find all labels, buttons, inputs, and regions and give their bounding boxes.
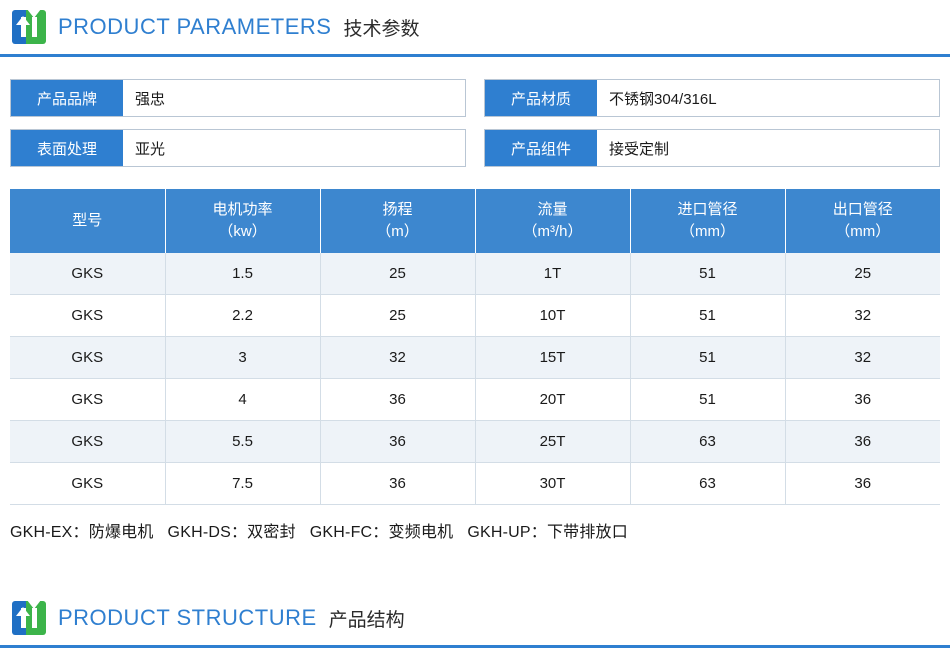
cell-head: 32 bbox=[320, 337, 475, 379]
company-logo-icon bbox=[12, 10, 46, 44]
info-key-brand: 产品品牌 bbox=[11, 80, 123, 116]
info-value-surface-treatment: 亚光 bbox=[123, 130, 465, 166]
spec-table-body: GKS 1.5 25 1T 51 25 GKS 2.2 25 10T 51 32… bbox=[10, 253, 940, 505]
cell-inlet-diameter: 51 bbox=[630, 379, 785, 421]
cell-inlet-diameter: 63 bbox=[630, 463, 785, 505]
cell-outlet-diameter: 36 bbox=[785, 463, 940, 505]
cell-head: 36 bbox=[320, 463, 475, 505]
cell-motor-power: 2.2 bbox=[165, 295, 320, 337]
spec-table: 型号 电机功率 （kw） 扬程 （m） 流量 （m³/h） 进口管径 （m bbox=[10, 189, 940, 505]
cell-head: 25 bbox=[320, 253, 475, 295]
cell-head: 36 bbox=[320, 379, 475, 421]
info-row-components: 产品组件 接受定制 bbox=[484, 129, 940, 167]
cell-motor-power: 5.5 bbox=[165, 421, 320, 463]
cell-flow: 20T bbox=[475, 379, 630, 421]
spec-header-head: 扬程 （m） bbox=[320, 189, 475, 253]
note-item-ex: GKH-EX：防爆电机 bbox=[10, 524, 154, 541]
table-row: GKS 1.5 25 1T 51 25 bbox=[10, 253, 940, 295]
table-row: GKS 3 32 15T 51 32 bbox=[10, 337, 940, 379]
spec-table-wrapper: 型号 电机功率 （kw） 扬程 （m） 流量 （m³/h） 进口管径 （m bbox=[0, 189, 950, 505]
note-item-up: GKH-UP：下带排放口 bbox=[467, 524, 628, 541]
section-title-cn-structure: 产品结构 bbox=[329, 605, 405, 632]
spec-table-header-row: 型号 电机功率 （kw） 扬程 （m） 流量 （m³/h） 进口管径 （m bbox=[10, 189, 940, 253]
table-row: GKS 7.5 36 30T 63 36 bbox=[10, 463, 940, 505]
cell-flow: 15T bbox=[475, 337, 630, 379]
spec-header-head-line1: 扬程 bbox=[322, 199, 474, 221]
cell-outlet-diameter: 36 bbox=[785, 379, 940, 421]
section-header-structure: PRODUCT STRUCTURE 产品结构 bbox=[0, 591, 950, 645]
spec-table-head: 型号 电机功率 （kw） 扬程 （m） 流量 （m³/h） 进口管径 （m bbox=[10, 189, 940, 253]
cell-outlet-diameter: 32 bbox=[785, 295, 940, 337]
company-logo-icon bbox=[12, 601, 46, 635]
info-value-brand: 强忠 bbox=[123, 80, 465, 116]
table-row: GKS 4 36 20T 51 36 bbox=[10, 379, 940, 421]
cell-inlet-diameter: 51 bbox=[630, 295, 785, 337]
info-key-components: 产品组件 bbox=[485, 130, 597, 166]
section-title-cn-parameters: 技术参数 bbox=[343, 14, 419, 41]
cell-flow: 1T bbox=[475, 253, 630, 295]
info-row-material: 产品材质 不锈钢304/316L bbox=[484, 79, 940, 117]
spec-header-inlet-diameter: 进口管径 （mm） bbox=[630, 189, 785, 253]
cell-flow: 25T bbox=[475, 421, 630, 463]
spec-header-model: 型号 bbox=[10, 189, 165, 253]
cell-model: GKS bbox=[10, 295, 165, 337]
cell-inlet-diameter: 51 bbox=[630, 337, 785, 379]
cell-model: GKS bbox=[10, 379, 165, 421]
table-row: GKS 5.5 36 25T 63 36 bbox=[10, 421, 940, 463]
spec-header-outlet-diameter-line2: （mm） bbox=[787, 221, 940, 243]
product-info-grid: 产品品牌 强忠 表面处理 亚光 产品材质 不锈钢304/316L 产品组件 接受… bbox=[0, 79, 950, 167]
info-key-material: 产品材质 bbox=[485, 80, 597, 116]
section-header-parameters: PRODUCT PARAMETERS 技术参数 bbox=[0, 0, 950, 54]
cell-inlet-diameter: 51 bbox=[630, 253, 785, 295]
cell-flow: 10T bbox=[475, 295, 630, 337]
cell-motor-power: 7.5 bbox=[165, 463, 320, 505]
table-row: GKS 2.2 25 10T 51 32 bbox=[10, 295, 940, 337]
cell-model: GKS bbox=[10, 421, 165, 463]
cell-flow: 30T bbox=[475, 463, 630, 505]
spec-header-motor-power: 电机功率 （kw） bbox=[165, 189, 320, 253]
spec-header-outlet-diameter-line1: 出口管径 bbox=[787, 199, 940, 221]
spec-header-motor-power-line2: （kw） bbox=[167, 221, 319, 243]
cell-head: 36 bbox=[320, 421, 475, 463]
cell-motor-power: 1.5 bbox=[165, 253, 320, 295]
info-value-material: 不锈钢304/316L bbox=[597, 80, 939, 116]
spec-header-outlet-diameter: 出口管径 （mm） bbox=[785, 189, 940, 253]
cell-model: GKS bbox=[10, 463, 165, 505]
product-info-column-right: 产品材质 不锈钢304/316L 产品组件 接受定制 bbox=[484, 79, 940, 167]
cell-outlet-diameter: 25 bbox=[785, 253, 940, 295]
section-structure: PRODUCT STRUCTURE 产品结构 bbox=[0, 591, 950, 648]
cell-head: 25 bbox=[320, 295, 475, 337]
info-row-brand: 产品品牌 强忠 bbox=[10, 79, 466, 117]
note-item-ds: GKH-DS：双密封 bbox=[168, 524, 296, 541]
spec-header-inlet-diameter-line1: 进口管径 bbox=[632, 199, 784, 221]
spec-header-flow: 流量 （m³/h） bbox=[475, 189, 630, 253]
section-title-en-parameters: PRODUCT PARAMETERS bbox=[58, 14, 331, 40]
spec-header-model-line1: 型号 bbox=[11, 210, 164, 232]
spec-header-motor-power-line1: 电机功率 bbox=[167, 199, 319, 221]
section-divider-parameters bbox=[0, 54, 950, 57]
spec-header-head-line2: （m） bbox=[322, 221, 474, 243]
section-title-en-structure: PRODUCT STRUCTURE bbox=[58, 605, 317, 631]
cell-inlet-diameter: 63 bbox=[630, 421, 785, 463]
product-info-column-left: 产品品牌 强忠 表面处理 亚光 bbox=[10, 79, 466, 167]
info-row-surface-treatment: 表面处理 亚光 bbox=[10, 129, 466, 167]
cell-model: GKS bbox=[10, 337, 165, 379]
info-key-surface-treatment: 表面处理 bbox=[11, 130, 123, 166]
info-value-components: 接受定制 bbox=[597, 130, 939, 166]
cell-model: GKS bbox=[10, 253, 165, 295]
cell-outlet-diameter: 32 bbox=[785, 337, 940, 379]
spec-header-flow-line2: （m³/h） bbox=[477, 221, 629, 243]
note-item-fc: GKH-FC：变频电机 bbox=[310, 524, 454, 541]
cell-motor-power: 3 bbox=[165, 337, 320, 379]
spec-header-inlet-diameter-line2: （mm） bbox=[632, 221, 784, 243]
cell-motor-power: 4 bbox=[165, 379, 320, 421]
model-suffix-note: GKH-EX：防爆电机GKH-DS：双密封GKH-FC：变频电机GKH-UP：下… bbox=[0, 518, 950, 542]
cell-outlet-diameter: 36 bbox=[785, 421, 940, 463]
spec-header-flow-line1: 流量 bbox=[477, 199, 629, 221]
